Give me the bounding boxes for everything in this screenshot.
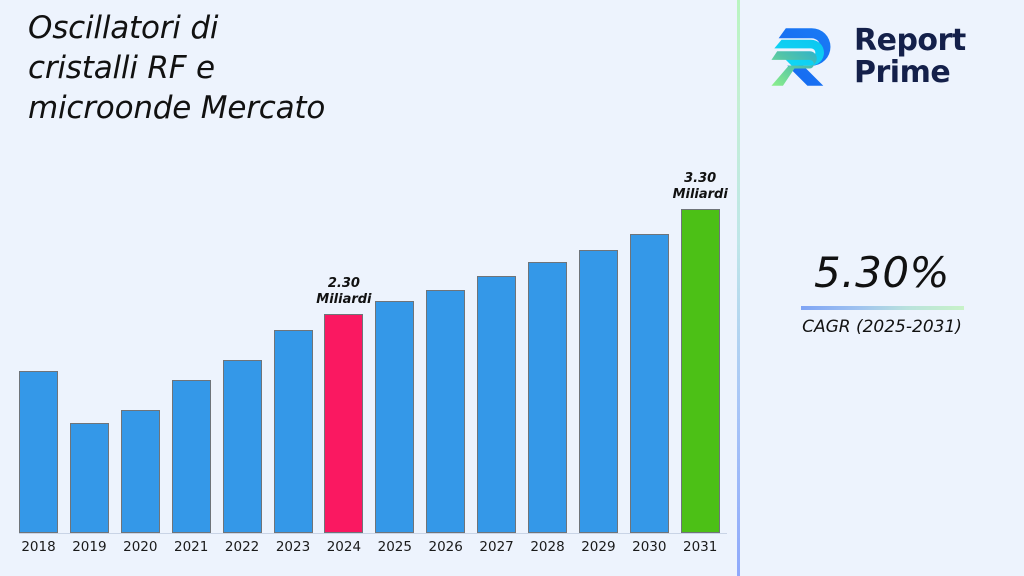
brand-panel: Report Prime 5.30% CAGR (2025-2031) — [740, 0, 1024, 576]
bar-2021 — [172, 380, 211, 533]
bar-2031 — [681, 209, 720, 533]
bar-2026 — [426, 290, 465, 533]
bar-2027 — [477, 276, 516, 533]
report-prime-logo-mark-icon — [770, 21, 842, 93]
cagr-divider — [801, 306, 964, 310]
bar-2025 — [375, 301, 414, 533]
bar-2024 — [324, 314, 363, 533]
bar-2020 — [121, 410, 160, 533]
infographic-root: Oscillatori di cristalli RF e microonde … — [0, 0, 1024, 576]
bar-2030 — [630, 234, 669, 533]
bar-2029 — [579, 250, 618, 533]
bar-2023 — [274, 330, 313, 533]
x-tick-2031: 2031 — [670, 539, 730, 555]
bar-2019 — [70, 423, 109, 533]
bar-chart-plot: 2018201920202021202220232024202520262027… — [0, 0, 737, 576]
bar-2028 — [528, 262, 567, 533]
bar-annotation-2024: 2.30 Miliardi — [284, 276, 404, 308]
chart-panel: Oscillatori di cristalli RF e microonde … — [0, 0, 737, 576]
brand-logo: Report Prime — [770, 14, 1000, 100]
cagr-value: 5.30% — [740, 248, 1024, 298]
cagr-label: CAGR (2025-2031) — [740, 316, 1024, 338]
brand-wordmark: Report Prime — [854, 25, 966, 89]
x-axis-line — [19, 533, 727, 534]
cagr-block: 5.30% CAGR (2025-2031) — [740, 248, 1024, 338]
bar-2018 — [19, 371, 58, 533]
bar-2022 — [223, 360, 262, 533]
